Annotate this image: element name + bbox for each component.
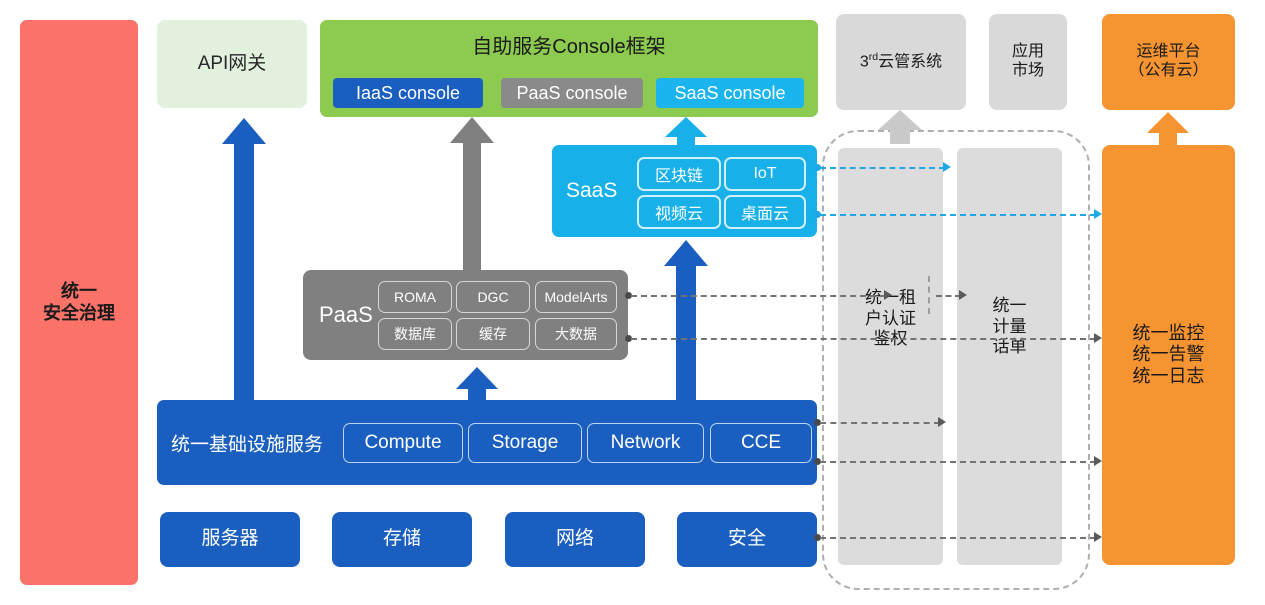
connector-saas-to-ops — [820, 214, 1096, 216]
arrow-ops-column-to-platform — [1146, 112, 1190, 147]
ops-platform-line2: （公有云） — [1128, 62, 1208, 81]
shared-service-billing-text: 统一 计量 话单 — [957, 296, 1062, 358]
infra-service-compute[interactable]: Compute — [343, 423, 463, 463]
shared-service-column-billing: 统一 计量 话单 — [957, 148, 1062, 565]
paas-service-database[interactable]: 数据库 — [378, 318, 452, 350]
ops-platform-tile: 运维平台 （公有云） — [1102, 14, 1235, 110]
infra-service-network[interactable]: Network — [587, 423, 704, 463]
connector-paas-to-auth — [631, 295, 886, 297]
connector-infra-to-auth — [820, 422, 940, 424]
paas-service-modelarts[interactable]: ModelArts — [535, 281, 617, 313]
saas-label: SaaS — [566, 179, 617, 203]
saas-console-chip[interactable]: SaaS console — [656, 78, 804, 108]
security-label-line1: 统一 — [43, 281, 115, 302]
arrow-infra-to-saas — [664, 240, 708, 402]
unified-security-governance-panel: 统一 安全治理 — [20, 20, 138, 585]
infra-service-cce[interactable]: CCE — [710, 423, 812, 463]
connector-arrowhead-infra-ops — [1094, 456, 1102, 466]
architecture-diagram: 统一 安全治理 API网关 自助服务Console框架 IaaS console… — [0, 0, 1265, 605]
hardware-tile-server[interactable]: 服务器 — [160, 512, 300, 567]
infra-service-storage[interactable]: Storage — [468, 423, 582, 463]
ops-column-line1: 统一监控 — [1133, 323, 1205, 344]
connector-arrowhead-hardware-ops — [1094, 532, 1102, 542]
connector-arrowhead-paas-auth — [884, 290, 892, 300]
saas-service-blockchain[interactable]: 区块链 — [637, 157, 721, 191]
api-gateway-label: API网关 — [198, 53, 267, 75]
console-framework-title: 自助服务Console框架 — [320, 30, 818, 59]
arrow-shared-to-third-party — [878, 110, 922, 144]
infrastructure-bar: 统一基础设施服务 Compute Storage Network CCE — [157, 400, 817, 485]
connector-arrowhead-infra-auth — [938, 417, 946, 427]
connector-arrowhead-saas-ops — [1094, 209, 1102, 219]
saas-block: SaaS 区块链 IoT 视频云 桌面云 — [552, 145, 817, 237]
third-party-cloud-mgmt-label: 3rd云管系统 — [860, 51, 942, 72]
arrow-infra-to-paas — [455, 367, 499, 402]
connector-infra-to-ops — [820, 461, 1096, 463]
paas-block: PaaS ROMA DGC ModelArts 数据库 缓存 大数据 — [303, 270, 628, 360]
saas-service-video-cloud[interactable]: 视频云 — [637, 195, 721, 229]
api-gateway-box: API网关 — [157, 20, 307, 108]
iaas-console-chip[interactable]: IaaS console — [333, 78, 483, 108]
hardware-tile-storage[interactable]: 存储 — [332, 512, 472, 567]
paas-console-chip[interactable]: PaaS console — [501, 78, 643, 108]
connector-paas-to-ops — [631, 338, 1096, 340]
paas-service-roma[interactable]: ROMA — [378, 281, 452, 313]
connector-arrowhead-saas-auth — [943, 162, 951, 172]
paas-label: PaaS — [319, 302, 373, 328]
paas-service-bigdata[interactable]: 大数据 — [535, 318, 617, 350]
arrow-paas-to-console — [450, 117, 494, 270]
console-framework-box: 自助服务Console框架 IaaS console PaaS console … — [320, 20, 818, 117]
paas-service-cache[interactable]: 缓存 — [456, 318, 530, 350]
hardware-tile-security[interactable]: 安全 — [677, 512, 817, 567]
security-label-line2: 安全治理 — [43, 303, 115, 324]
ops-platform-line1: 运维平台 — [1128, 43, 1208, 62]
connector-arrowhead-paas-ops — [1094, 333, 1102, 343]
saas-service-desktop-cloud[interactable]: 桌面云 — [724, 195, 806, 229]
infrastructure-label: 统一基础设施服务 — [171, 429, 323, 456]
ops-column-line2: 统一告警 — [1133, 344, 1205, 365]
hardware-tile-network[interactable]: 网络 — [505, 512, 645, 567]
arrow-infra-to-api-gateway — [222, 118, 266, 400]
app-market-line1: 应用 — [1012, 43, 1044, 62]
connector-saas-to-auth — [820, 167, 945, 169]
paas-service-dgc[interactable]: DGC — [456, 281, 530, 313]
saas-service-iot[interactable]: IoT — [724, 157, 806, 191]
ops-capabilities-column: 统一监控 统一告警 统一日志 — [1102, 145, 1235, 565]
connector-tick-paas-auth — [928, 276, 930, 314]
arrow-saas-to-console — [664, 117, 708, 147]
ops-column-line3: 统一日志 — [1133, 366, 1205, 387]
connector-auth-to-billing — [936, 295, 961, 297]
connector-arrowhead-auth-billing — [959, 290, 967, 300]
app-market-tile: 应用 市场 — [989, 14, 1067, 110]
shared-service-column-auth: 统一租 户认证 鉴权 — [838, 148, 943, 565]
connector-hardware-to-ops — [820, 537, 1096, 539]
app-market-line2: 市场 — [1012, 62, 1044, 81]
third-party-cloud-mgmt-tile: 3rd云管系统 — [836, 14, 966, 110]
